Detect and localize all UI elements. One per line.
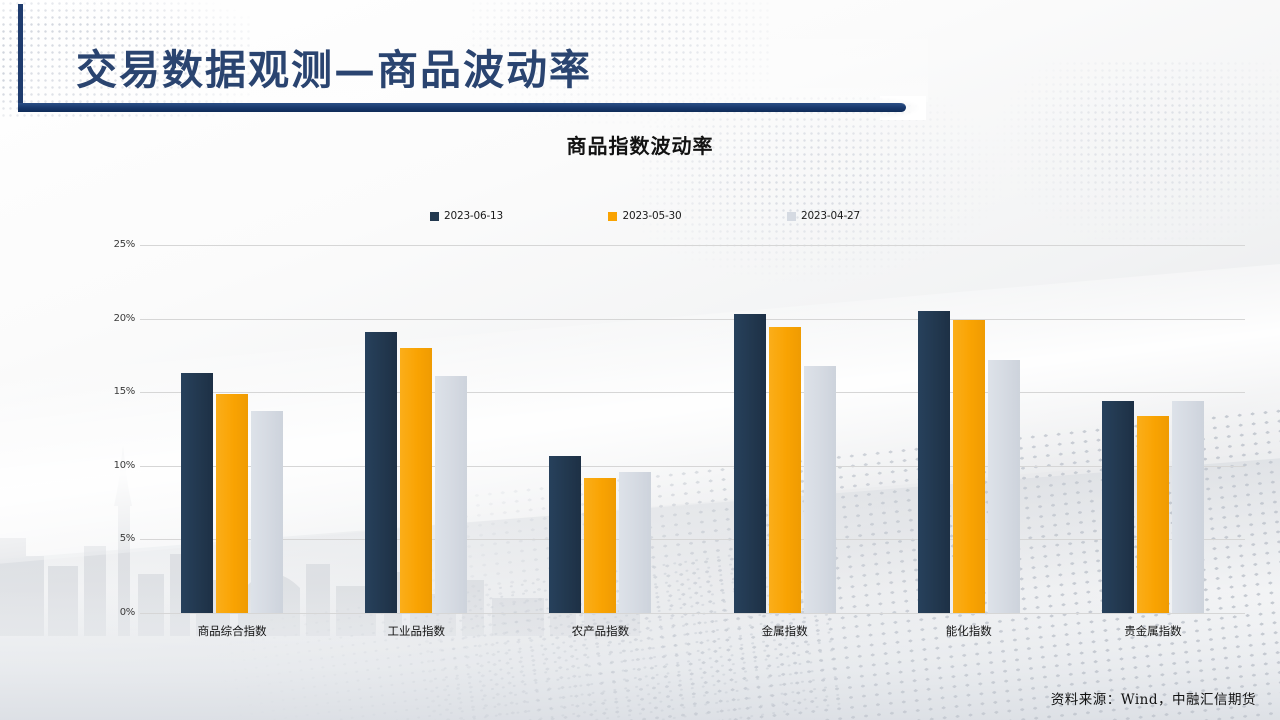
bar-group: 能化指数 bbox=[877, 245, 1061, 613]
bar[interactable] bbox=[251, 411, 283, 613]
bar[interactable] bbox=[619, 472, 651, 613]
bar-set bbox=[693, 245, 877, 613]
bar[interactable] bbox=[988, 360, 1020, 613]
x-axis-category-label: 商品综合指数 bbox=[140, 623, 324, 639]
bar-group: 贵金属指数 bbox=[1061, 245, 1245, 613]
slide-canvas: 交易数据观测—商品波动率 商品指数波动率 2023-06-132023-05-3… bbox=[0, 0, 1280, 720]
bar-chart: 商品指数波动率 2023-06-132023-05-302023-04-27 0… bbox=[0, 130, 1280, 650]
y-axis-tick-label: 15% bbox=[75, 386, 135, 397]
chart-title: 商品指数波动率 bbox=[0, 130, 1280, 159]
y-axis-tick-label: 0% bbox=[75, 607, 135, 618]
page-title: 交易数据观测—商品波动率 bbox=[76, 36, 592, 96]
y-axis-tick-label: 5% bbox=[75, 533, 135, 544]
gridline bbox=[140, 613, 1245, 614]
bar-set bbox=[140, 245, 324, 613]
legend-item[interactable]: 2023-04-27 bbox=[787, 210, 860, 222]
bar-group: 金属指数 bbox=[693, 245, 877, 613]
title-accent-bar bbox=[18, 4, 23, 108]
bar[interactable] bbox=[1172, 401, 1204, 613]
bar-group: 商品综合指数 bbox=[140, 245, 324, 613]
plot-area: 0%5%10%15%20%25% 商品综合指数工业品指数农产品指数金属指数能化指… bbox=[140, 245, 1245, 613]
legend-item[interactable]: 2023-06-13 bbox=[430, 210, 503, 222]
x-axis-category-label: 能化指数 bbox=[877, 623, 1061, 639]
legend-label: 2023-04-27 bbox=[801, 210, 860, 222]
title-underline-rule bbox=[18, 103, 906, 112]
bar-group: 农产品指数 bbox=[508, 245, 692, 613]
title-underline-cap bbox=[880, 96, 926, 120]
legend-item[interactable]: 2023-05-30 bbox=[608, 210, 681, 222]
x-axis-category-label: 农产品指数 bbox=[508, 623, 692, 639]
bar-set bbox=[324, 245, 508, 613]
source-note: 资料来源：Wind，中融汇信期货 bbox=[1051, 688, 1256, 708]
bar[interactable] bbox=[216, 394, 248, 613]
chart-legend: 2023-06-132023-05-302023-04-27 bbox=[430, 210, 860, 222]
x-axis-category-label: 工业品指数 bbox=[324, 623, 508, 639]
bar[interactable] bbox=[1137, 416, 1169, 613]
legend-swatch-icon bbox=[430, 212, 439, 221]
bar[interactable] bbox=[549, 456, 581, 614]
bar[interactable] bbox=[769, 327, 801, 613]
legend-label: 2023-05-30 bbox=[622, 210, 681, 222]
bar[interactable] bbox=[435, 376, 467, 613]
y-axis-tick-label: 25% bbox=[75, 239, 135, 250]
bar[interactable] bbox=[953, 320, 985, 613]
y-axis-tick-label: 10% bbox=[75, 460, 135, 471]
bar[interactable] bbox=[734, 314, 766, 613]
bar-group: 工业品指数 bbox=[324, 245, 508, 613]
bar[interactable] bbox=[365, 332, 397, 613]
x-axis-category-label: 贵金属指数 bbox=[1061, 623, 1245, 639]
bar-set bbox=[877, 245, 1061, 613]
y-axis-tick-label: 20% bbox=[75, 313, 135, 324]
bar[interactable] bbox=[584, 478, 616, 613]
legend-label: 2023-06-13 bbox=[444, 210, 503, 222]
legend-swatch-icon bbox=[608, 212, 617, 221]
bar[interactable] bbox=[804, 366, 836, 613]
bar[interactable] bbox=[918, 311, 950, 613]
legend-swatch-icon bbox=[787, 212, 796, 221]
bar-set bbox=[508, 245, 692, 613]
bar[interactable] bbox=[1102, 401, 1134, 613]
bar[interactable] bbox=[400, 348, 432, 613]
bar[interactable] bbox=[181, 373, 213, 613]
x-axis-category-label: 金属指数 bbox=[693, 623, 877, 639]
bar-set bbox=[1061, 245, 1245, 613]
